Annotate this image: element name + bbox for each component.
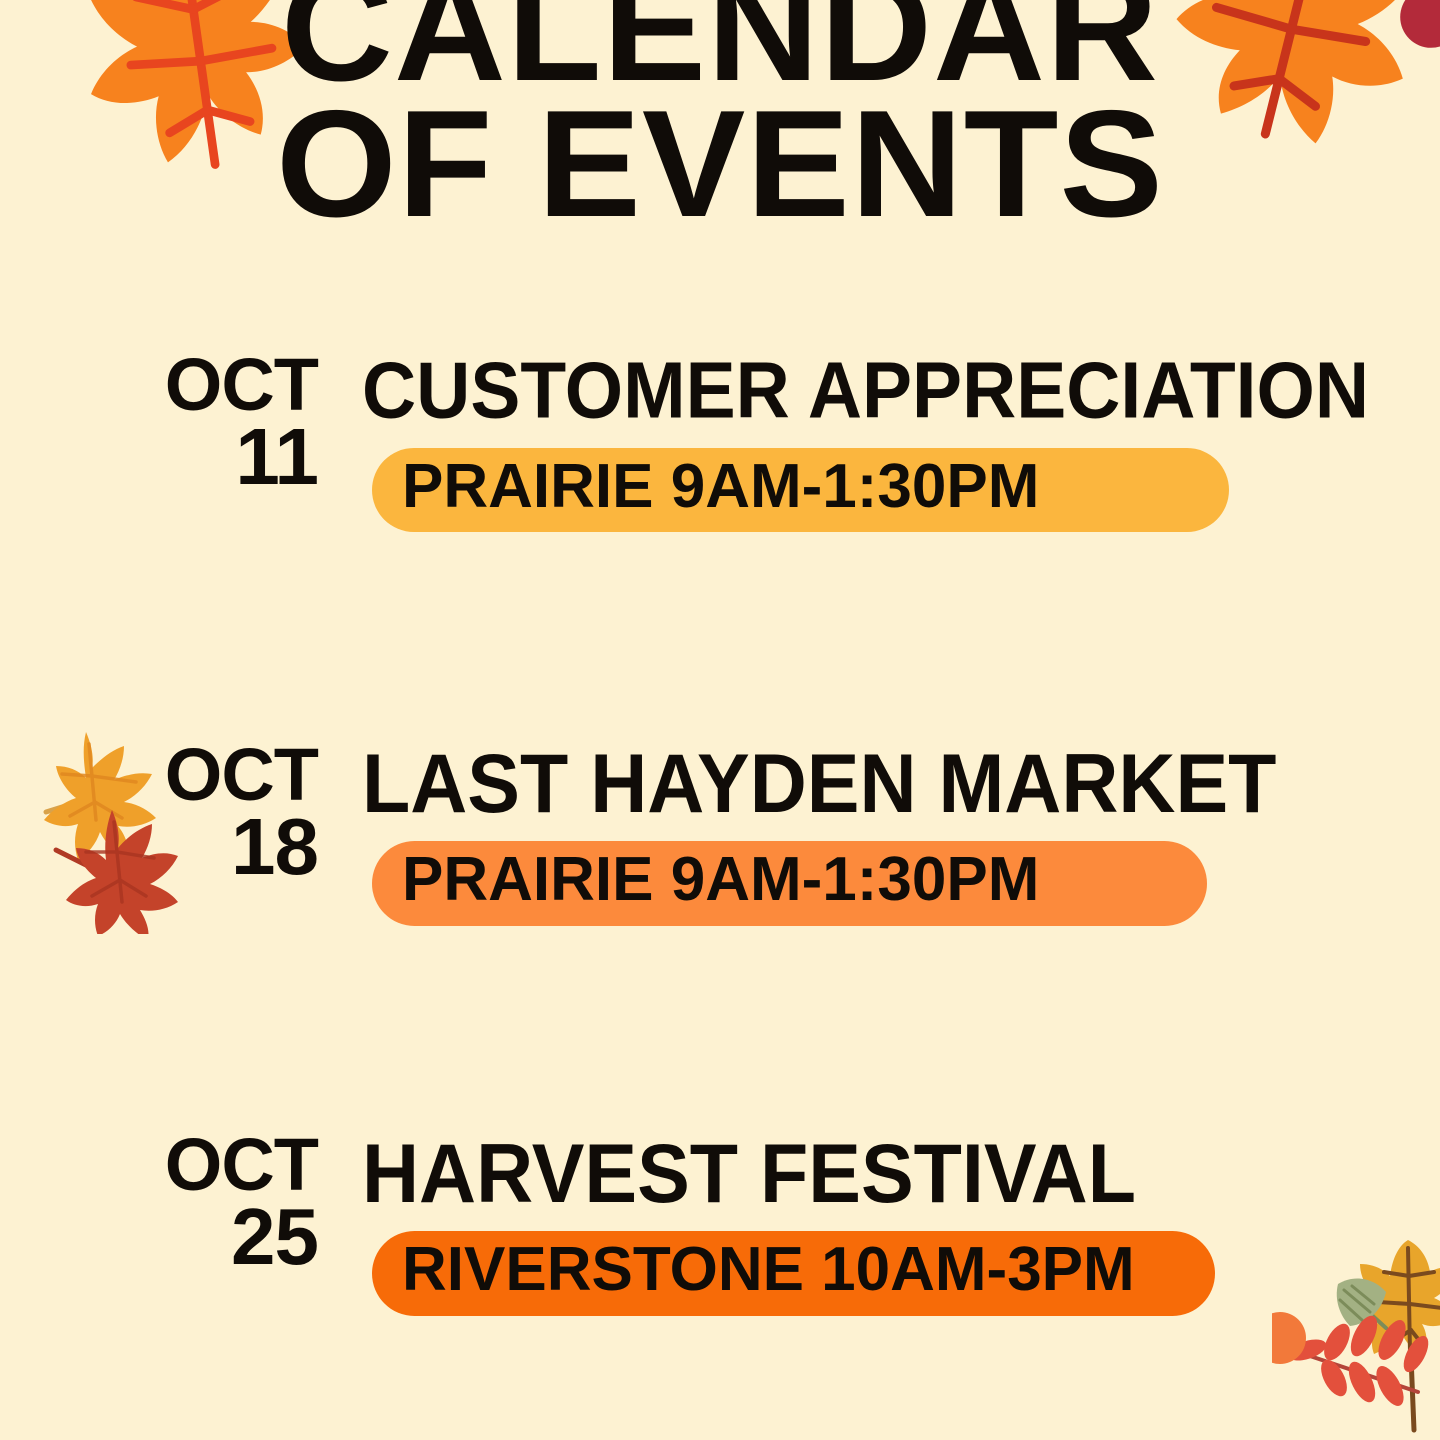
- event-month: OCT: [118, 352, 318, 417]
- event-date: OCT 18: [118, 742, 328, 885]
- event-row: OCT 25 HARVEST FESTIVAL RIVERSTONE 10AM-…: [0, 1132, 1440, 1382]
- event-day: 25: [118, 1199, 318, 1275]
- event-details: CUSTOMER APPRECIATION PRAIRIE 9AM-1:30PM: [328, 352, 1440, 532]
- event-title: HARVEST FESTIVAL: [362, 1132, 1440, 1214]
- event-details: LAST HAYDEN MARKET PRAIRIE 9AM-1:30PM: [328, 742, 1440, 926]
- event-title: CUSTOMER APPRECIATION: [362, 352, 1440, 430]
- event-date: OCT 25: [118, 1132, 328, 1275]
- event-month: OCT: [118, 1132, 318, 1197]
- page-title: CALENDAR OF EVENTS: [0, 0, 1440, 238]
- event-row: OCT 18 LAST HAYDEN MARKET PRAIRIE 9AM-1:…: [0, 742, 1440, 992]
- event-location-time-badge: RIVERSTONE 10AM-3PM: [372, 1231, 1215, 1315]
- event-location-time-badge: PRAIRIE 9AM-1:30PM: [372, 448, 1229, 532]
- event-location-time-badge: PRAIRIE 9AM-1:30PM: [372, 841, 1207, 925]
- event-details: HARVEST FESTIVAL RIVERSTONE 10AM-3PM: [328, 1132, 1440, 1316]
- title-line-of-events: OF EVENTS: [0, 92, 1440, 238]
- event-date: OCT 11: [118, 352, 328, 495]
- event-day: 11: [118, 419, 318, 495]
- event-month: OCT: [118, 742, 318, 807]
- events-list: OCT 11 CUSTOMER APPRECIATION PRAIRIE 9AM…: [0, 352, 1440, 1382]
- event-day: 18: [118, 809, 318, 885]
- poster-canvas: CALENDAR OF EVENTS OCT 11 CUSTOMER APPRE…: [0, 0, 1440, 1440]
- event-row: OCT 11 CUSTOMER APPRECIATION PRAIRIE 9AM…: [0, 352, 1440, 602]
- event-title: LAST HAYDEN MARKET: [362, 742, 1440, 824]
